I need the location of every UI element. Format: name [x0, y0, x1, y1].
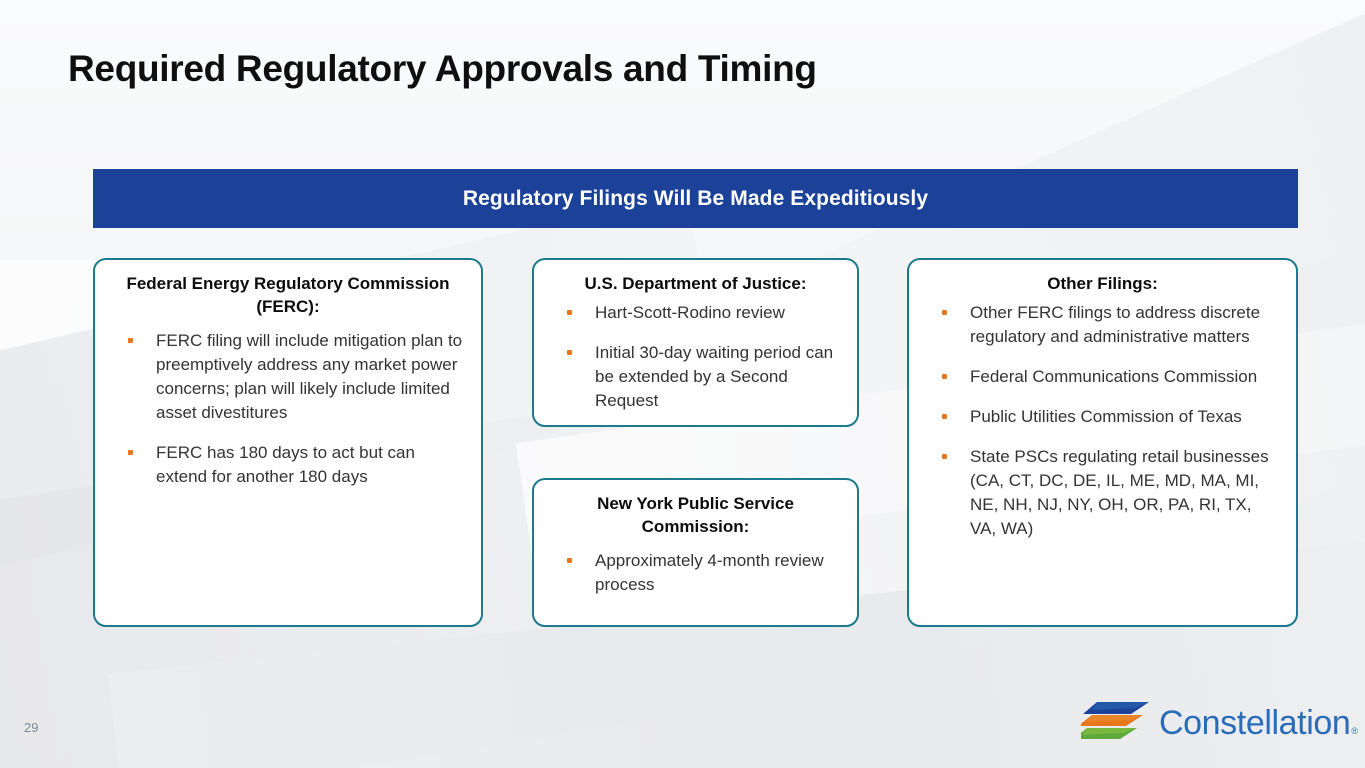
- card-ferc-heading: Federal Energy Regulatory Commission (FE…: [95, 260, 481, 319]
- list-item: FERC filing will include mitigation plan…: [109, 329, 467, 425]
- registered-trademark-icon: ®: [1351, 726, 1358, 736]
- constellation-swoosh-icon: [1081, 699, 1153, 743]
- list-item: Public Utilities Commission of Texas: [923, 405, 1282, 429]
- card-ferc: Federal Energy Regulatory Commission (FE…: [93, 258, 483, 627]
- card-nypsc-bullet-list: Approximately 4-month review process: [534, 539, 857, 597]
- list-item: Hart-Scott-Rodino review: [548, 301, 843, 325]
- page-number: 29: [24, 720, 38, 735]
- list-item: Other FERC filings to address discrete r…: [923, 301, 1282, 349]
- list-item: Initial 30-day waiting period can be ext…: [548, 341, 843, 413]
- list-item: Federal Communications Commission: [923, 365, 1282, 389]
- section-banner: Regulatory Filings Will Be Made Expediti…: [93, 169, 1298, 228]
- slide: Required Regulatory Approvals and Timing…: [0, 0, 1365, 768]
- card-ferc-bullet-list: FERC filing will include mitigation plan…: [95, 319, 481, 489]
- card-other-filings-bullet-list: Other FERC filings to address discrete r…: [909, 295, 1296, 541]
- section-banner-label: Regulatory Filings Will Be Made Expediti…: [463, 187, 928, 211]
- card-doj-heading: U.S. Department of Justice:: [534, 260, 857, 295]
- constellation-wordmark: Constellation: [1159, 706, 1350, 740]
- card-doj: U.S. Department of Justice: Hart-Scott-R…: [532, 258, 859, 427]
- list-item: State PSCs regulating retail businesses …: [923, 445, 1282, 541]
- card-doj-bullet-list: Hart-Scott-Rodino review Initial 30-day …: [534, 295, 857, 413]
- card-nypsc-heading: New York Public Service Commission:: [534, 480, 857, 539]
- list-item: FERC has 180 days to act but can extend …: [109, 441, 467, 489]
- constellation-logo: Constellation ®: [1081, 699, 1357, 743]
- slide-title: Required Regulatory Approvals and Timing: [68, 48, 817, 90]
- card-other-filings: Other Filings: Other FERC filings to add…: [907, 258, 1298, 627]
- list-item: Approximately 4-month review process: [548, 549, 843, 597]
- card-other-filings-heading: Other Filings:: [909, 260, 1296, 295]
- card-nypsc: New York Public Service Commission: Appr…: [532, 478, 859, 627]
